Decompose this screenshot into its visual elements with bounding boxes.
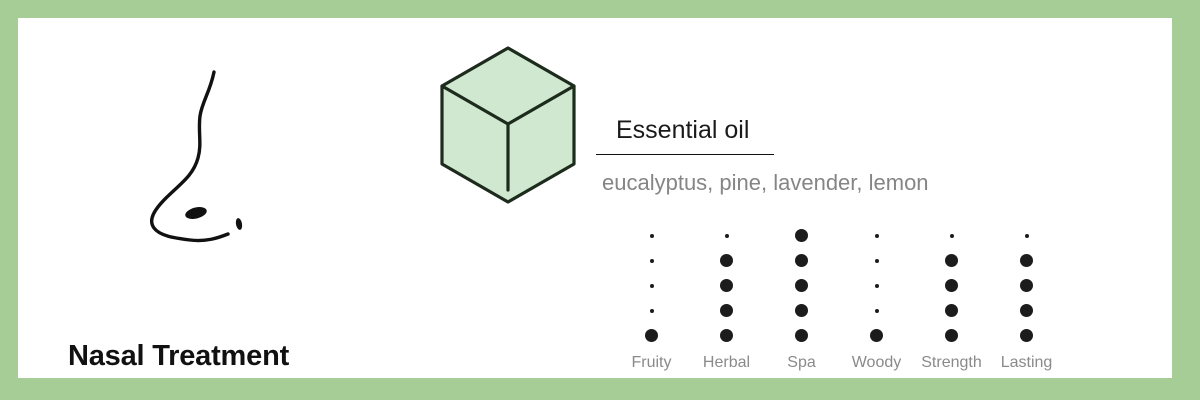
dot-stack — [720, 223, 733, 348]
dot-cell — [875, 223, 879, 248]
dot-empty — [950, 234, 954, 238]
dot-cell — [1025, 223, 1029, 248]
page-title: Nasal Treatment — [68, 340, 289, 373]
attribute-dot-chart: FruityHerbalSpaWoodyStrengthLasting — [614, 223, 1064, 372]
dot-cell — [875, 273, 879, 298]
dot-filled — [795, 229, 808, 242]
dot-stack — [795, 223, 808, 348]
dot-filled — [945, 329, 958, 342]
dot-cell — [795, 298, 808, 323]
dot-filled — [720, 329, 733, 342]
dot-cell — [795, 223, 808, 248]
dot-cell — [795, 273, 808, 298]
chart-column: Herbal — [689, 223, 764, 372]
dot-cell — [795, 248, 808, 273]
dot-stack — [645, 223, 658, 348]
dot-cell — [650, 248, 654, 273]
dot-cell — [1020, 273, 1033, 298]
dot-filled — [795, 304, 808, 317]
dot-cell — [950, 223, 954, 248]
dot-empty — [725, 234, 729, 238]
dot-cell — [875, 248, 879, 273]
dot-filled — [870, 329, 883, 342]
dot-filled — [795, 254, 808, 267]
chart-column: Strength — [914, 223, 989, 372]
dot-cell — [725, 223, 729, 248]
dot-filled — [1020, 254, 1033, 267]
chart-category-label: Strength — [921, 354, 981, 372]
heading-underline — [596, 154, 774, 155]
poster-inner-panel: Nasal Treatment Essential oil eucalyptus… — [18, 18, 1172, 378]
dot-stack — [1020, 223, 1033, 348]
dot-cell — [645, 323, 658, 348]
dot-cell — [795, 323, 808, 348]
dot-empty — [875, 234, 879, 238]
dot-filled — [645, 329, 658, 342]
isometric-cube-icon — [428, 40, 588, 210]
dot-cell — [870, 323, 883, 348]
dot-stack — [945, 223, 958, 348]
nose-profile-icon — [118, 58, 278, 258]
chart-category-label: Herbal — [703, 354, 750, 372]
chart-column: Woody — [839, 223, 914, 372]
dot-filled — [795, 279, 808, 292]
dot-cell — [650, 298, 654, 323]
dot-cell — [945, 298, 958, 323]
dot-stack — [870, 223, 883, 348]
dot-cell — [650, 273, 654, 298]
dot-empty — [875, 259, 879, 263]
dot-cell — [720, 248, 733, 273]
dot-cell — [1020, 298, 1033, 323]
dot-filled — [945, 254, 958, 267]
dot-filled — [720, 254, 733, 267]
chart-category-label: Woody — [852, 354, 902, 372]
chart-category-label: Fruity — [632, 354, 672, 372]
product-notes: eucalyptus, pine, lavender, lemon — [602, 170, 929, 196]
dot-cell — [650, 223, 654, 248]
dot-empty — [875, 284, 879, 288]
dot-empty — [1025, 234, 1029, 238]
dot-empty — [650, 259, 654, 263]
dot-filled — [720, 279, 733, 292]
dot-empty — [650, 234, 654, 238]
dot-cell — [945, 248, 958, 273]
dot-cell — [1020, 248, 1033, 273]
dot-empty — [650, 309, 654, 313]
dot-filled — [795, 329, 808, 342]
dot-filled — [1020, 279, 1033, 292]
dot-filled — [945, 279, 958, 292]
dot-empty — [875, 309, 879, 313]
dot-cell — [945, 323, 958, 348]
dot-cell — [945, 273, 958, 298]
dot-cell — [720, 298, 733, 323]
dot-cell — [875, 298, 879, 323]
poster-canvas: Nasal Treatment Essential oil eucalyptus… — [0, 0, 1200, 400]
dot-cell — [720, 323, 733, 348]
dot-filled — [945, 304, 958, 317]
product-name: Essential oil — [598, 116, 749, 150]
chart-category-label: Lasting — [1001, 354, 1053, 372]
dot-cell — [1020, 323, 1033, 348]
chart-category-label: Spa — [787, 354, 815, 372]
dot-cell — [720, 273, 733, 298]
dot-filled — [1020, 304, 1033, 317]
dot-filled — [1020, 329, 1033, 342]
product-heading: Essential oil — [598, 116, 1018, 150]
chart-column: Spa — [764, 223, 839, 372]
chart-column: Lasting — [989, 223, 1064, 372]
chart-column: Fruity — [614, 223, 689, 372]
dot-empty — [650, 284, 654, 288]
dot-filled — [720, 304, 733, 317]
